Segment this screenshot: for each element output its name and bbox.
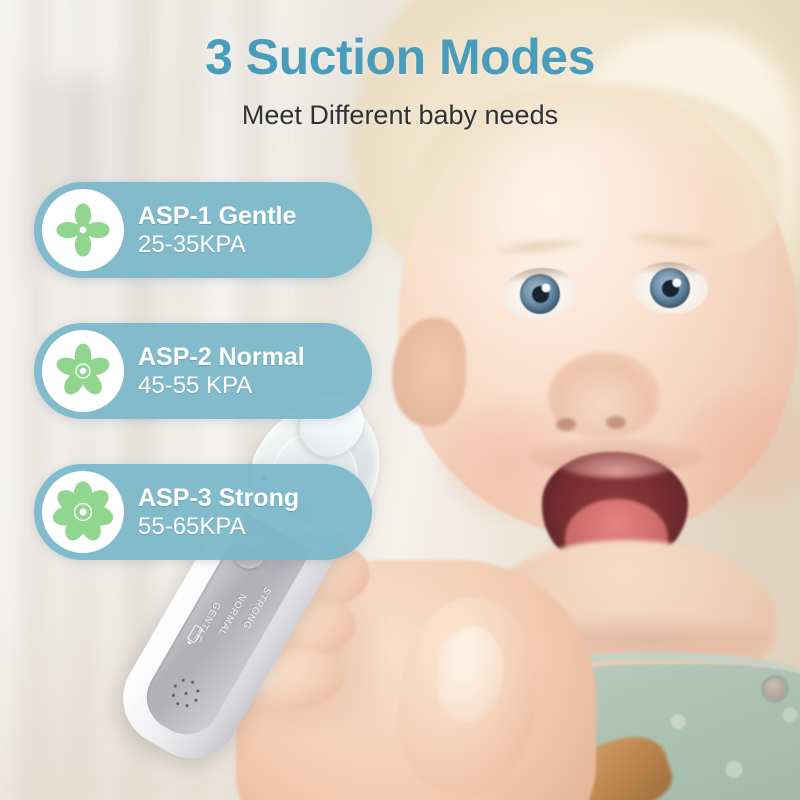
fan-4-blade-icon xyxy=(42,189,124,271)
page-title: 3 Suction Modes xyxy=(0,28,800,86)
badge-title: ASP-3 Strong xyxy=(138,485,299,512)
suction-mode-badge-list: ASP-1 Gentle 25-35KPA xyxy=(34,182,372,560)
device-label-normal: NORMAL xyxy=(215,592,248,638)
badge-text-group: ASP-2 Normal 45-55 KPA xyxy=(138,344,305,399)
suction-mode-badge-2[interactable]: ASP-2 Normal 45-55 KPA xyxy=(34,323,372,419)
eye-glint-left xyxy=(541,283,551,293)
badge-title: ASP-1 Gentle xyxy=(138,203,296,230)
baby-gum xyxy=(557,452,677,478)
badge-pressure: 55-65KPA xyxy=(138,514,299,540)
fan-4-blade-glyph xyxy=(52,199,114,261)
badge-pressure: 25-35KPA xyxy=(138,232,296,258)
product-marketing-image: STRONG NORMAL GENTLE xyxy=(0,0,800,800)
suction-mode-badge-3[interactable]: ASP-3 Strong 55-65KPA xyxy=(34,464,372,560)
nostril-right xyxy=(606,416,626,429)
badge-title: ASP-2 Normal xyxy=(138,344,305,371)
device-label-strong: STRONG xyxy=(240,585,273,631)
thumbnail xyxy=(431,622,510,726)
page-subtitle: Meet Different baby needs xyxy=(0,100,800,131)
badge-text-group: ASP-3 Strong 55-65KPA xyxy=(138,485,299,540)
fan-5-blade-icon xyxy=(42,330,124,412)
fan-5-blade-glyph xyxy=(51,339,115,403)
onesie-snap-button xyxy=(764,678,786,700)
eyelash-right xyxy=(633,260,710,277)
suction-mode-badge-1[interactable]: ASP-1 Gentle 25-35KPA xyxy=(34,182,372,278)
badge-text-group: ASP-1 Gentle 25-35KPA xyxy=(138,203,296,258)
badge-pressure: 45-55 KPA xyxy=(138,373,305,399)
fan-7-blade-glyph xyxy=(48,477,118,547)
baby-ear xyxy=(392,318,466,426)
nostril-left xyxy=(556,418,576,431)
fan-7-blade-icon xyxy=(42,471,124,553)
eye-glint-right xyxy=(672,278,681,287)
